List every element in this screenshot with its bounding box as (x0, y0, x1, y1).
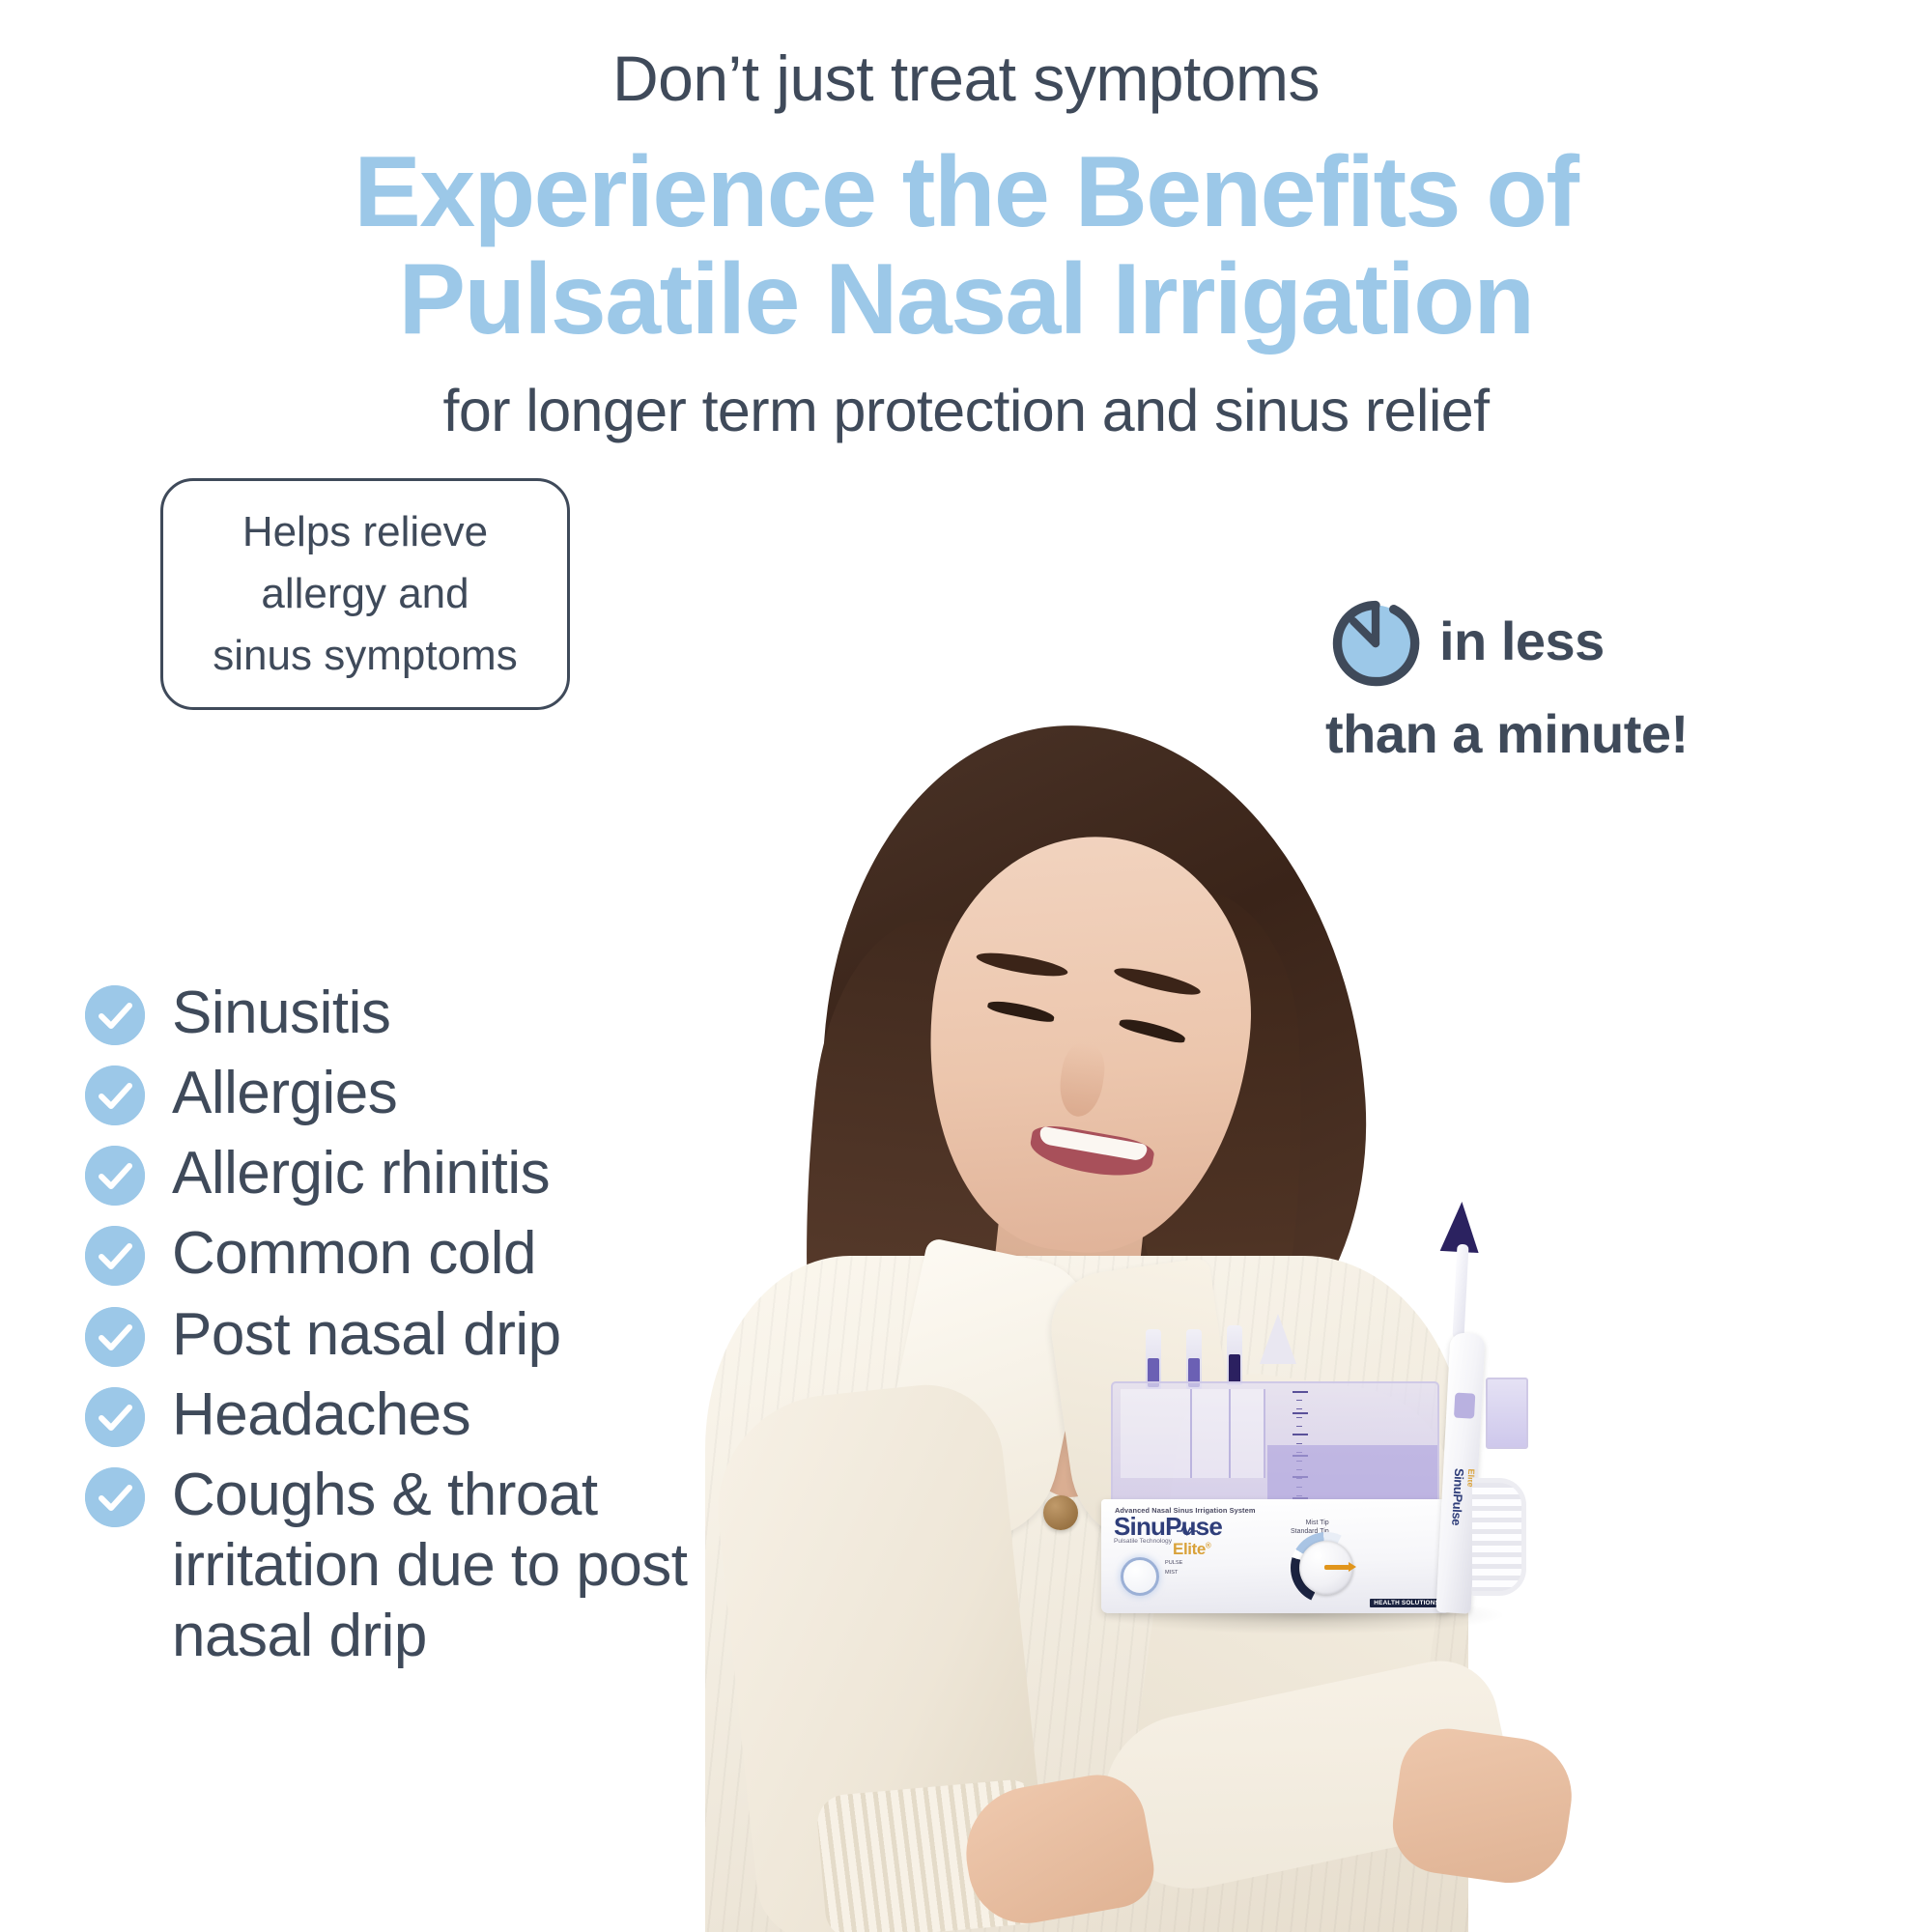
benefit-label: Post nasal drip (172, 1299, 561, 1370)
nozzle-cone-icon (1260, 1314, 1296, 1364)
check-circle-icon (85, 1146, 145, 1206)
check-circle-icon (85, 1467, 145, 1527)
clock-icon (1325, 591, 1426, 692)
water-hose (1472, 1478, 1526, 1596)
hand-right (1386, 1722, 1578, 1890)
reservoir-divider (1190, 1389, 1192, 1478)
benefit-label: Headaches (172, 1379, 470, 1450)
benefit-label: Common cold (172, 1218, 536, 1289)
callout-box: Helps relieve allergy and sinus symptoms (160, 478, 570, 710)
indicator-labels: PULSE MIST (1165, 1559, 1182, 1577)
device-brand-name: SinuPuse (1114, 1514, 1222, 1539)
nozzle-tip (1146, 1329, 1161, 1389)
power-button[interactable] (1121, 1557, 1159, 1596)
page-title-line-2: Pulsatile Nasal Irrigation (0, 246, 1932, 354)
wand-flow-switch[interactable] (1454, 1393, 1475, 1419)
tagline-text: for longer term protection and sinus rel… (0, 380, 1932, 441)
dial-knob[interactable] (1299, 1541, 1353, 1595)
check-circle-icon (85, 985, 145, 1045)
pulse-wave-icon (1177, 1522, 1198, 1536)
minute-badge-row-top: in less (1325, 591, 1779, 692)
device-model-mark: ® (1206, 1541, 1211, 1549)
benefit-label: Allergic rhinitis (172, 1138, 550, 1208)
poster-canvas: Don’t just treat symptoms Experience the… (0, 0, 1932, 1932)
sweater-button (1043, 1495, 1078, 1530)
callout-line-1: Helps relieve (213, 501, 517, 563)
device-brand-se: se (1196, 1512, 1222, 1541)
reservoir-divider (1229, 1389, 1231, 1478)
minute-badge-line-1: in less (1439, 614, 1605, 668)
device-model-text: Elite® (1173, 1540, 1210, 1559)
eyebrow-text: Don’t just treat symptoms (0, 46, 1932, 110)
device-body: Advanced Nasal Sinus Irrigation System S… (1101, 1499, 1451, 1613)
check-circle-icon (85, 1065, 145, 1125)
device-model-label: Elite (1173, 1540, 1206, 1558)
nozzle-tips (1142, 1312, 1306, 1389)
dial-pointer-icon (1324, 1565, 1350, 1570)
nozzle-tip (1186, 1329, 1202, 1389)
manufacturer-badge: HEALTH SOLUTIONS (1370, 1599, 1443, 1607)
device-technology-text: Pulsatile Technology (1114, 1538, 1172, 1545)
page-title-line-1: Experience the Benefits of (0, 139, 1932, 246)
water-reservoir (1111, 1381, 1439, 1509)
callout-line-2: allergy and (213, 563, 517, 625)
headline-block: Don’t just treat symptoms Experience the… (0, 46, 1932, 441)
nozzle-tip (1227, 1325, 1242, 1385)
sinupulse-device: Advanced Nasal Sinus Irrigation System S… (1082, 1188, 1531, 1623)
led-label-mist: MIST (1165, 1569, 1182, 1578)
benefit-label: Allergies (172, 1058, 397, 1128)
check-circle-icon (85, 1387, 145, 1447)
dial-label-line-1: Mist Tip (1291, 1519, 1329, 1527)
benefit-label: Sinusitis (172, 978, 390, 1048)
reservoir-compartment (1121, 1389, 1265, 1478)
callout-text: Helps relieve allergy and sinus symptoms (213, 501, 517, 686)
wand-brand-label: SinuPulse (1449, 1468, 1466, 1526)
wand-tip-stem (1452, 1244, 1468, 1339)
callout-line-3: sinus symptoms (213, 625, 517, 687)
device-brand-sinu: Sinu (1114, 1512, 1165, 1541)
product-photo: Advanced Nasal Sinus Irrigation System S… (676, 715, 1932, 1932)
benefit-label: Coughs & throat irritation due to post n… (172, 1460, 713, 1671)
check-circle-icon (85, 1226, 145, 1286)
check-circle-icon (85, 1307, 145, 1367)
page-title: Experience the Benefits of Pulsatile Nas… (0, 139, 1932, 355)
reservoir-water-level (1267, 1445, 1437, 1505)
mode-dial[interactable] (1291, 1532, 1362, 1604)
led-label-pulse: PULSE (1165, 1559, 1182, 1569)
side-reservoir (1486, 1378, 1528, 1449)
